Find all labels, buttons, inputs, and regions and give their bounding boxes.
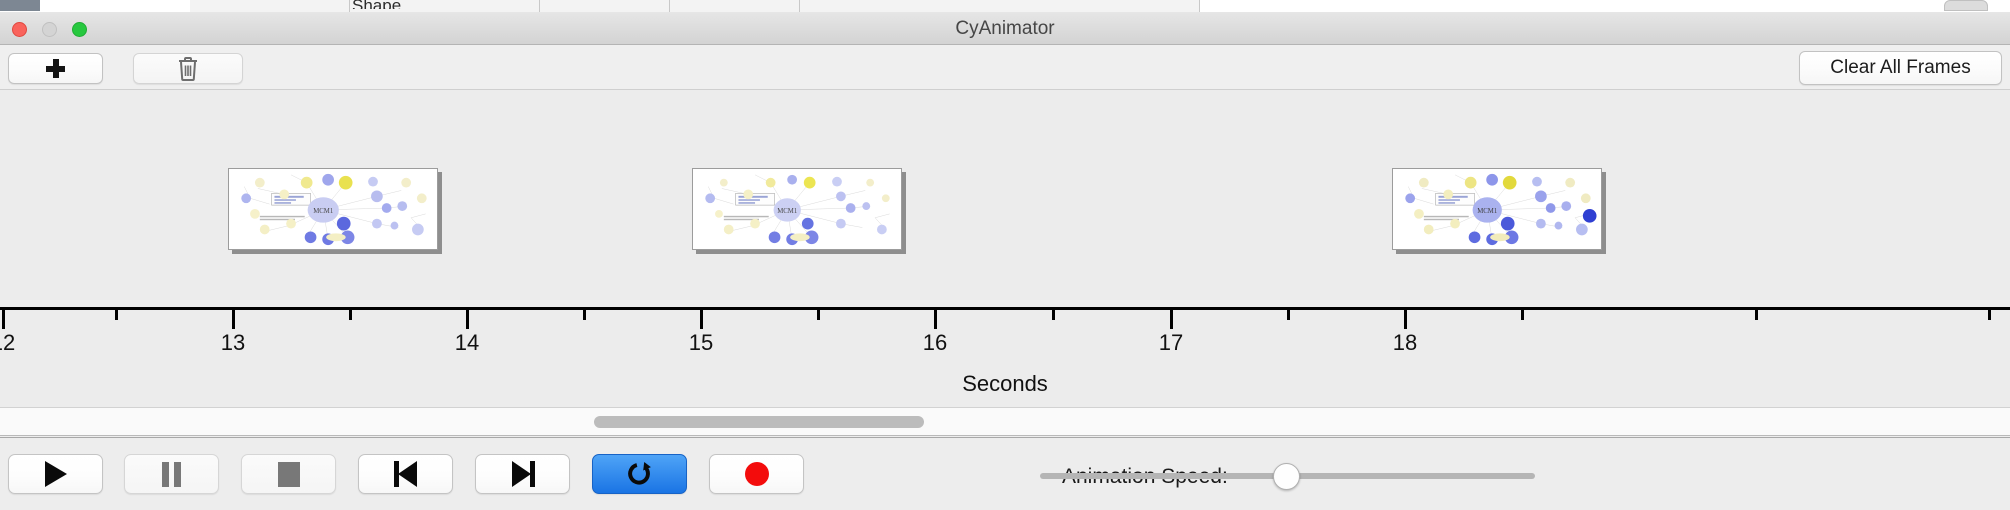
svg-text:MCM1: MCM1 — [777, 208, 797, 215]
background-tab-4 — [670, 0, 800, 12]
axis-tick-label: 12 — [0, 330, 15, 356]
axis-tick-label: 15 — [689, 330, 713, 356]
network-graph-preview: MCM1 — [1393, 169, 1601, 249]
network-graph-preview: MCM1 — [693, 169, 901, 249]
background-shape-label: Shape — [352, 0, 401, 9]
background-tab-3 — [540, 0, 670, 12]
clear-all-frames-button[interactable]: Clear All Frames — [1799, 51, 2002, 85]
record-button[interactable] — [709, 454, 804, 494]
skip-forward-icon — [511, 461, 535, 487]
axis-tick-label: 17 — [1159, 330, 1183, 356]
axis-tick-major — [700, 310, 703, 329]
axis-tick-minor — [583, 310, 586, 320]
axis-tick-major — [2, 310, 5, 329]
clear-all-frames-label: Clear All Frames — [1830, 57, 1970, 79]
timeline-axis-line — [0, 307, 2010, 310]
timeline-panel[interactable]: MCM1 — [0, 90, 2010, 408]
timeline-frame-thumbnail[interactable]: MCM1 — [1392, 168, 1602, 250]
background-dark-tab — [0, 0, 40, 11]
axis-tick-minor — [1755, 310, 1758, 320]
background-round-tab — [1944, 0, 1988, 11]
next-frame-button[interactable] — [475, 454, 570, 494]
play-button[interactable] — [8, 454, 103, 494]
axis-tick-minor — [115, 310, 118, 320]
trash-icon — [177, 56, 199, 82]
frame-toolbar: Clear All Frames — [0, 45, 2010, 90]
timeline-frame-thumbnail[interactable]: MCM1 — [692, 168, 902, 250]
axis-tick-major — [466, 310, 469, 329]
stop-icon — [278, 462, 300, 487]
delete-frame-button[interactable] — [133, 53, 243, 84]
pause-button[interactable] — [124, 454, 219, 494]
axis-tick-minor — [1988, 310, 1991, 320]
loop-icon — [625, 459, 655, 489]
add-frame-button[interactable] — [8, 53, 103, 84]
axis-tick-major — [1404, 310, 1407, 329]
cyanimator-window: Shape CyAnimator Clear All Frames — [0, 0, 2010, 510]
axis-tick-label: 16 — [923, 330, 947, 356]
background-window-strip: Shape — [0, 0, 2010, 12]
timeline-scrollbar-thumb[interactable] — [594, 416, 924, 428]
axis-tick-label: 18 — [1393, 330, 1417, 356]
pause-icon — [162, 462, 181, 487]
record-icon — [745, 462, 769, 486]
axis-tick-major — [232, 310, 235, 329]
axis-tick-label: 14 — [455, 330, 479, 356]
loop-button[interactable] — [592, 454, 687, 494]
timeline-axis-title: Seconds — [0, 371, 2010, 397]
animation-speed-slider-thumb[interactable] — [1273, 463, 1300, 490]
axis-tick-major — [934, 310, 937, 329]
axis-tick-label: 13 — [221, 330, 245, 356]
skip-back-icon — [394, 461, 418, 487]
axis-tick-minor — [1521, 310, 1524, 320]
svg-text:MCM1: MCM1 — [313, 208, 333, 215]
window-title: CyAnimator — [0, 12, 2010, 45]
svg-text:MCM1: MCM1 — [1477, 208, 1497, 215]
axis-tick-minor — [1287, 310, 1290, 320]
axis-tick-minor — [349, 310, 352, 320]
title-bar: CyAnimator — [0, 12, 2010, 45]
axis-tick-major — [1170, 310, 1173, 329]
play-icon — [45, 461, 67, 487]
previous-frame-button[interactable] — [358, 454, 453, 494]
network-graph-preview: MCM1 — [229, 169, 437, 249]
stop-button[interactable] — [241, 454, 336, 494]
background-tab-5 — [800, 0, 1200, 12]
axis-tick-minor — [817, 310, 820, 320]
plus-icon — [46, 59, 65, 78]
background-tab-1 — [190, 0, 350, 12]
timeline-frame-thumbnail[interactable]: MCM1 — [228, 168, 438, 250]
timeline-scrollbar[interactable] — [0, 408, 2010, 436]
axis-tick-minor — [1052, 310, 1055, 320]
playback-toolbar: Animation Speed: — [0, 437, 2010, 510]
